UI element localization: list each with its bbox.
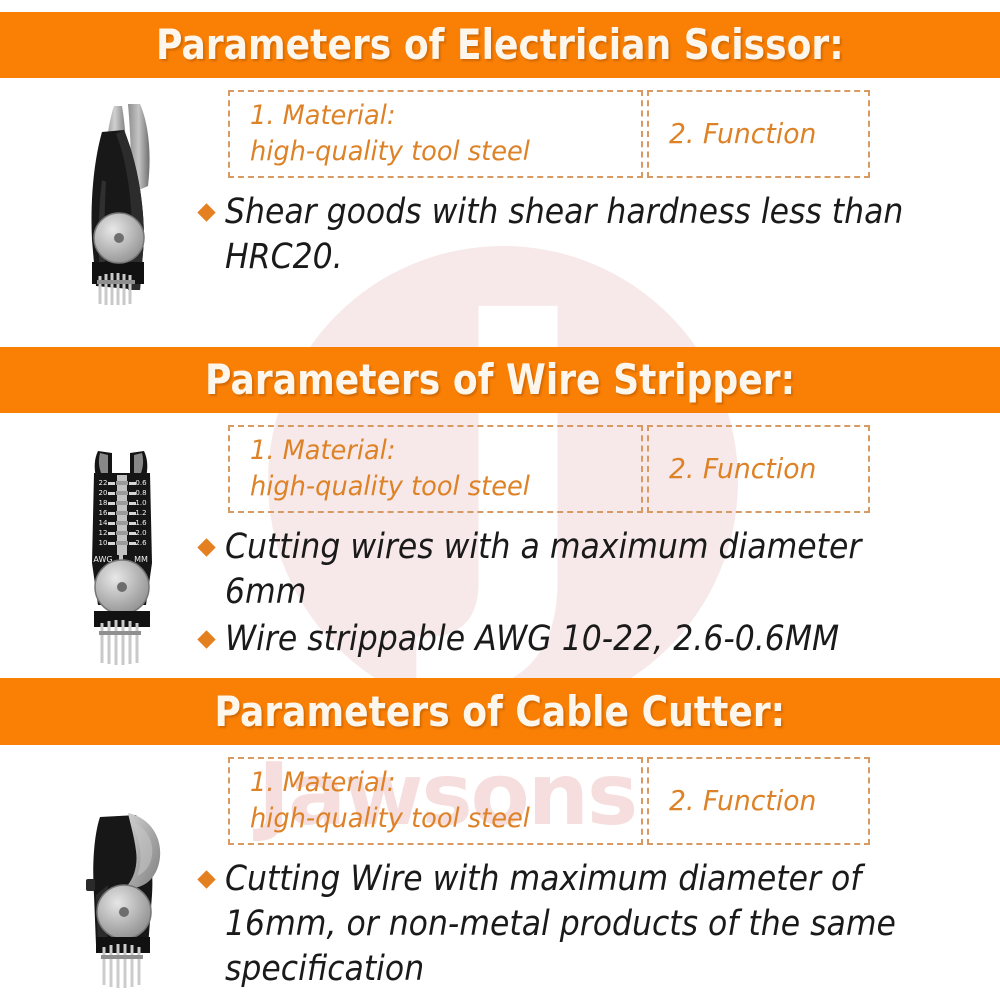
section-electrician-scissor: 1. Material: high-quality tool steel 2. … — [0, 78, 1000, 347]
svg-text:MM: MM — [134, 555, 148, 564]
electrician-scissor-photo — [72, 90, 212, 305]
section-header-band-electrician-scissor: Parameters of Electrician Scissor: — [0, 12, 1000, 78]
material-box-electrician-scissor: 1. Material: high-quality tool steel — [228, 90, 643, 178]
cable-cutter-photo — [72, 795, 212, 990]
section-heading-wire-stripper: Parameters of Wire Stripper: — [205, 358, 795, 402]
svg-text:0.6: 0.6 — [135, 479, 147, 487]
bullet-text: Cutting wires with a maximum diameter 6m… — [225, 525, 914, 615]
svg-text:18: 18 — [99, 499, 108, 507]
material-value: high-quality tool steel — [250, 469, 621, 505]
section-heading-cable-cutter: Parameters of Cable Cutter: — [215, 690, 786, 734]
function-label: 2. Function — [669, 451, 858, 487]
content-layer: Parameters of Electrician Scissor: — [0, 0, 1000, 1000]
wire-stripper-photo: 2220 1816 1412 10 0.60.8 1.01.2 1.62.0 2… — [72, 435, 212, 665]
list-item: Wire strippable AWG 10-22, 2.6-0.6MM — [200, 617, 990, 662]
svg-text:14: 14 — [99, 519, 108, 527]
list-item: Cutting wires with a maximum diameter 6m… — [200, 525, 990, 615]
function-box-electrician-scissor: 2. Function — [647, 90, 870, 178]
section-heading-electrician-scissor: Parameters of Electrician Scissor: — [156, 23, 844, 67]
bullet-list-wire-stripper: Cutting wires with a maximum diameter 6m… — [200, 525, 990, 664]
function-box-wire-stripper: 2. Function — [647, 425, 870, 513]
svg-text:12: 12 — [99, 529, 108, 537]
svg-text:16: 16 — [99, 509, 108, 517]
material-box-wire-stripper: 1. Material: high-quality tool steel — [228, 425, 643, 513]
bullet-list-electrician-scissor: Shear goods with shear hardness less tha… — [200, 190, 990, 282]
diamond-bullet-icon — [197, 630, 215, 648]
material-value: high-quality tool steel — [250, 134, 621, 170]
material-label: 1. Material: — [250, 98, 621, 134]
svg-text:1.0: 1.0 — [135, 499, 146, 507]
svg-text:0.8: 0.8 — [135, 489, 146, 497]
svg-text:10: 10 — [99, 539, 108, 547]
bullet-list-cable-cutter: Cutting Wire with maximum diameter of 16… — [200, 857, 990, 994]
section-wire-stripper: 2220 1816 1412 10 0.60.8 1.01.2 1.62.0 2… — [0, 413, 1000, 678]
svg-text:1.6: 1.6 — [135, 519, 147, 527]
svg-text:20: 20 — [99, 489, 108, 497]
list-item: Shear goods with shear hardness less tha… — [200, 190, 990, 280]
function-label: 2. Function — [669, 116, 858, 152]
diamond-bullet-icon — [197, 870, 215, 888]
svg-text:1.2: 1.2 — [135, 509, 146, 517]
function-label: 2. Function — [669, 783, 858, 819]
infographic-page: J Jawsons Parameters of Electrician Scis… — [0, 0, 1000, 1000]
material-box-cable-cutter: 1. Material: high-quality tool steel — [228, 757, 643, 845]
parameter-boxes-wire-stripper: 1. Material: high-quality tool steel 2. … — [228, 425, 870, 513]
section-header-band-wire-stripper: Parameters of Wire Stripper: — [0, 347, 1000, 413]
bullet-text: Shear goods with shear hardness less tha… — [225, 190, 914, 280]
list-item: Cutting Wire with maximum diameter of 16… — [200, 857, 990, 992]
material-label: 1. Material: — [250, 433, 621, 469]
svg-text:2.0: 2.0 — [135, 529, 146, 537]
parameter-boxes-electrician-scissor: 1. Material: high-quality tool steel 2. … — [228, 90, 870, 178]
bullet-text: Wire strippable AWG 10-22, 2.6-0.6MM — [225, 617, 914, 662]
diamond-bullet-icon — [197, 203, 215, 221]
function-box-cable-cutter: 2. Function — [647, 757, 870, 845]
section-header-band-cable-cutter: Parameters of Cable Cutter: — [0, 678, 1000, 745]
diamond-bullet-icon — [197, 538, 215, 556]
svg-text:2.6: 2.6 — [135, 539, 147, 547]
bullet-text: Cutting Wire with maximum diameter of 16… — [225, 857, 914, 992]
parameter-boxes-cable-cutter: 1. Material: high-quality tool steel 2. … — [228, 757, 870, 845]
section-cable-cutter: 1. Material: high-quality tool steel 2. … — [0, 745, 1000, 1000]
svg-text:22: 22 — [99, 479, 108, 487]
material-label: 1. Material: — [250, 765, 621, 801]
material-value: high-quality tool steel — [250, 801, 621, 837]
